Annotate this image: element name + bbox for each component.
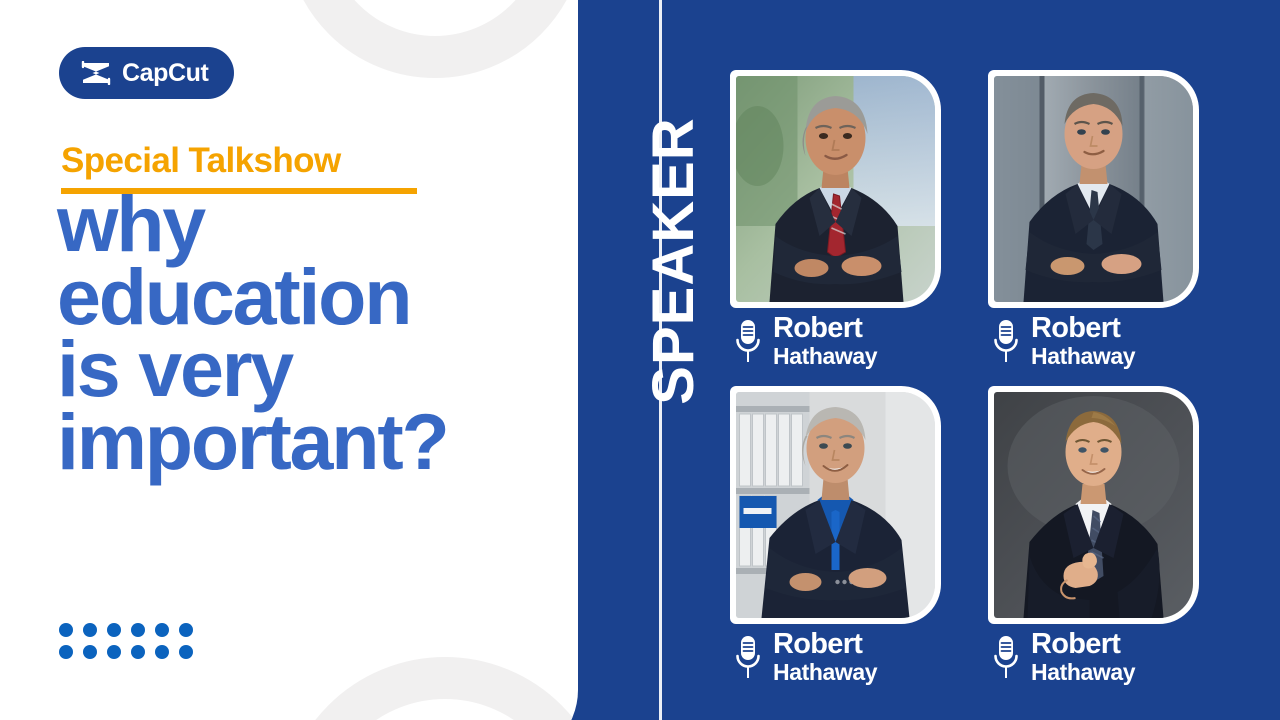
photo-frame [730, 386, 941, 624]
capcut-logo-badge[interactable]: CapCut [59, 47, 234, 99]
decorative-ring-bottom [280, 657, 578, 720]
speaker-first-name: Robert [1031, 314, 1135, 343]
decorative-dot [179, 645, 193, 659]
decorative-dot [131, 623, 145, 637]
decorative-ring-top [285, 0, 578, 78]
decorative-dot [155, 623, 169, 637]
decorative-dot [107, 623, 121, 637]
decorative-dot [59, 645, 73, 659]
photo-frame [988, 386, 1199, 624]
photo-frame [730, 70, 941, 308]
microphone-icon [734, 318, 762, 364]
speaker-name-row: Robert Hathaway [992, 630, 1135, 684]
microphone-icon [992, 634, 1020, 680]
speaker-name: Robert Hathaway [773, 630, 877, 684]
speaker-name-row: Robert Hathaway [734, 314, 877, 368]
speaker-card[interactable]: Robert Hathaway [988, 372, 1210, 670]
speaker-name: Robert Hathaway [1031, 630, 1135, 684]
capcut-logo-icon [81, 61, 111, 85]
speaker-name-row: Robert Hathaway [734, 630, 877, 684]
headline-line-1: why [57, 188, 527, 261]
poster-canvas: SPEAKER [0, 0, 1280, 720]
capcut-wordmark: CapCut [122, 61, 208, 86]
decorative-dot [179, 623, 193, 637]
speaker-first-name: Robert [773, 314, 877, 343]
speaker-name: Robert Hathaway [1031, 314, 1135, 368]
decorative-dot [107, 645, 121, 659]
speaker-name-row: Robert Hathaway [992, 314, 1135, 368]
eyebrow-label: Special Talkshow [61, 142, 417, 181]
speaker-section: SPEAKER [578, 0, 1280, 720]
headline-line-4: important? [57, 406, 527, 479]
left-content-panel: CapCut Special Talkshow why education is… [0, 0, 578, 720]
decorative-dot [83, 623, 97, 637]
decorative-dot [131, 645, 145, 659]
microphone-icon [992, 318, 1020, 364]
speaker-card[interactable]: Robert Hathaway [988, 56, 1210, 354]
photo-frame [988, 70, 1199, 308]
decorative-dot [155, 645, 169, 659]
decorative-dot [83, 645, 97, 659]
speaker-last-name: Hathaway [1031, 345, 1135, 368]
microphone-icon [734, 634, 762, 680]
decorative-dots-grid [59, 623, 193, 659]
speaker-photo [994, 76, 1193, 302]
speaker-card[interactable]: Robert Hathaway [730, 372, 952, 670]
speaker-photo [736, 392, 935, 618]
decorative-dot [59, 623, 73, 637]
speaker-name: Robert Hathaway [773, 314, 877, 368]
speaker-first-name: Robert [1031, 630, 1135, 659]
speaker-card[interactable]: Robert Hathaway [730, 56, 952, 354]
speaker-photo [994, 392, 1193, 618]
headline-line-2: education [57, 261, 527, 334]
headline-line-3: is very [57, 333, 527, 406]
speaker-first-name: Robert [773, 630, 877, 659]
page-title: why education is very important? [57, 188, 527, 479]
speaker-photo [736, 76, 935, 302]
speaker-last-name: Hathaway [773, 345, 877, 368]
speaker-last-name: Hathaway [773, 661, 877, 684]
speaker-last-name: Hathaway [1031, 661, 1135, 684]
speaker-section-label: SPEAKER [645, 111, 703, 411]
speaker-grid: Robert Hathaway [730, 56, 1210, 696]
